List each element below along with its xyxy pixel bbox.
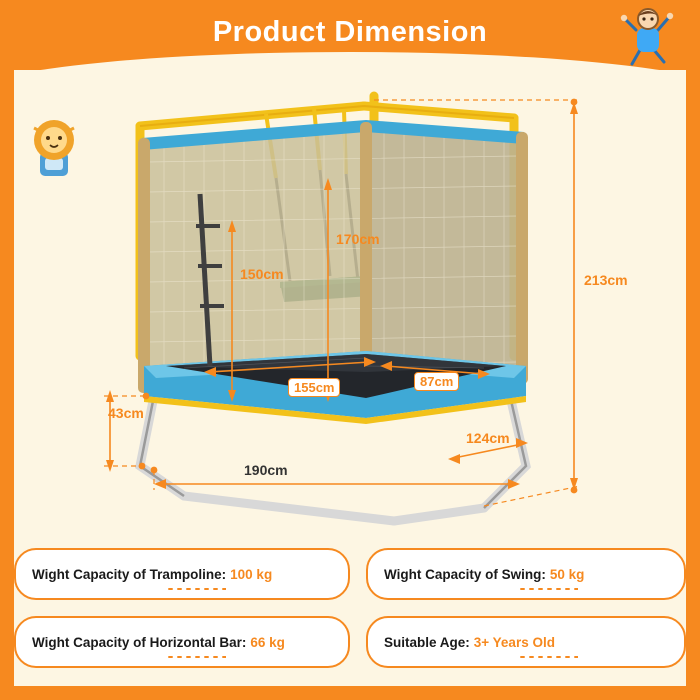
spec-card-age-label: Suitable Age:: [384, 635, 470, 650]
spec-card-swing-label: Wight Capacity of Swing:: [384, 567, 546, 582]
spec-card-suitable-age: Suitable Age: 3+ Years Old: [366, 616, 686, 668]
page-root: Product Dimension: [0, 0, 700, 700]
trampoline-illustration: [14, 66, 686, 536]
header-banner: Product Dimension: [0, 0, 700, 70]
spec-card-bar-label: Wight Capacity of Horizontal Bar:: [32, 635, 246, 650]
spec-card-trampoline-value: 100 kg: [230, 567, 272, 582]
spec-card-group: Wight Capacity of Trampoline: 100 kg Wig…: [14, 548, 686, 678]
dimension-label-frame-depth: 124cm: [466, 430, 510, 446]
dimension-label-frame-length: 190cm: [244, 462, 288, 478]
frame-border-bottom: [0, 686, 700, 700]
page-title: Product Dimension: [0, 16, 700, 49]
spec-card-bar-value: 66 kg: [250, 635, 285, 650]
dimension-label-ladder-height: 150cm: [240, 266, 284, 282]
jumping-boy-icon: [618, 4, 678, 66]
spec-card-swing-value: 50 kg: [550, 567, 585, 582]
dotted-underline-decoration: [518, 655, 578, 659]
spec-card-trampoline-capacity: Wight Capacity of Trampoline: 100 kg: [14, 548, 350, 600]
dimension-label-mat-length: 155cm: [288, 378, 340, 397]
frame-border-right: [686, 0, 700, 700]
dimension-label-swing-height: 170cm: [336, 231, 380, 247]
product-diagram: 213cm 170cm 150cm 155cm 87cm 43cm 124cm …: [14, 66, 686, 536]
dotted-underline-decoration: [518, 587, 578, 591]
dimension-label-mat-width: 87cm: [414, 372, 459, 391]
dotted-underline-decoration: [166, 587, 226, 591]
spec-card-swing-capacity: Wight Capacity of Swing: 50 kg: [366, 548, 686, 600]
spec-card-age-value: 3+ Years Old: [474, 635, 555, 650]
spec-card-bar-capacity: Wight Capacity of Horizontal Bar: 66 kg: [14, 616, 350, 668]
dotted-underline-decoration: [166, 655, 226, 659]
dimension-label-leg-height: 43cm: [108, 405, 144, 421]
spec-card-trampoline-label: Wight Capacity of Trampoline:: [32, 567, 226, 582]
frame-border-left: [0, 0, 14, 700]
dimension-label-height-total: 213cm: [584, 272, 628, 288]
